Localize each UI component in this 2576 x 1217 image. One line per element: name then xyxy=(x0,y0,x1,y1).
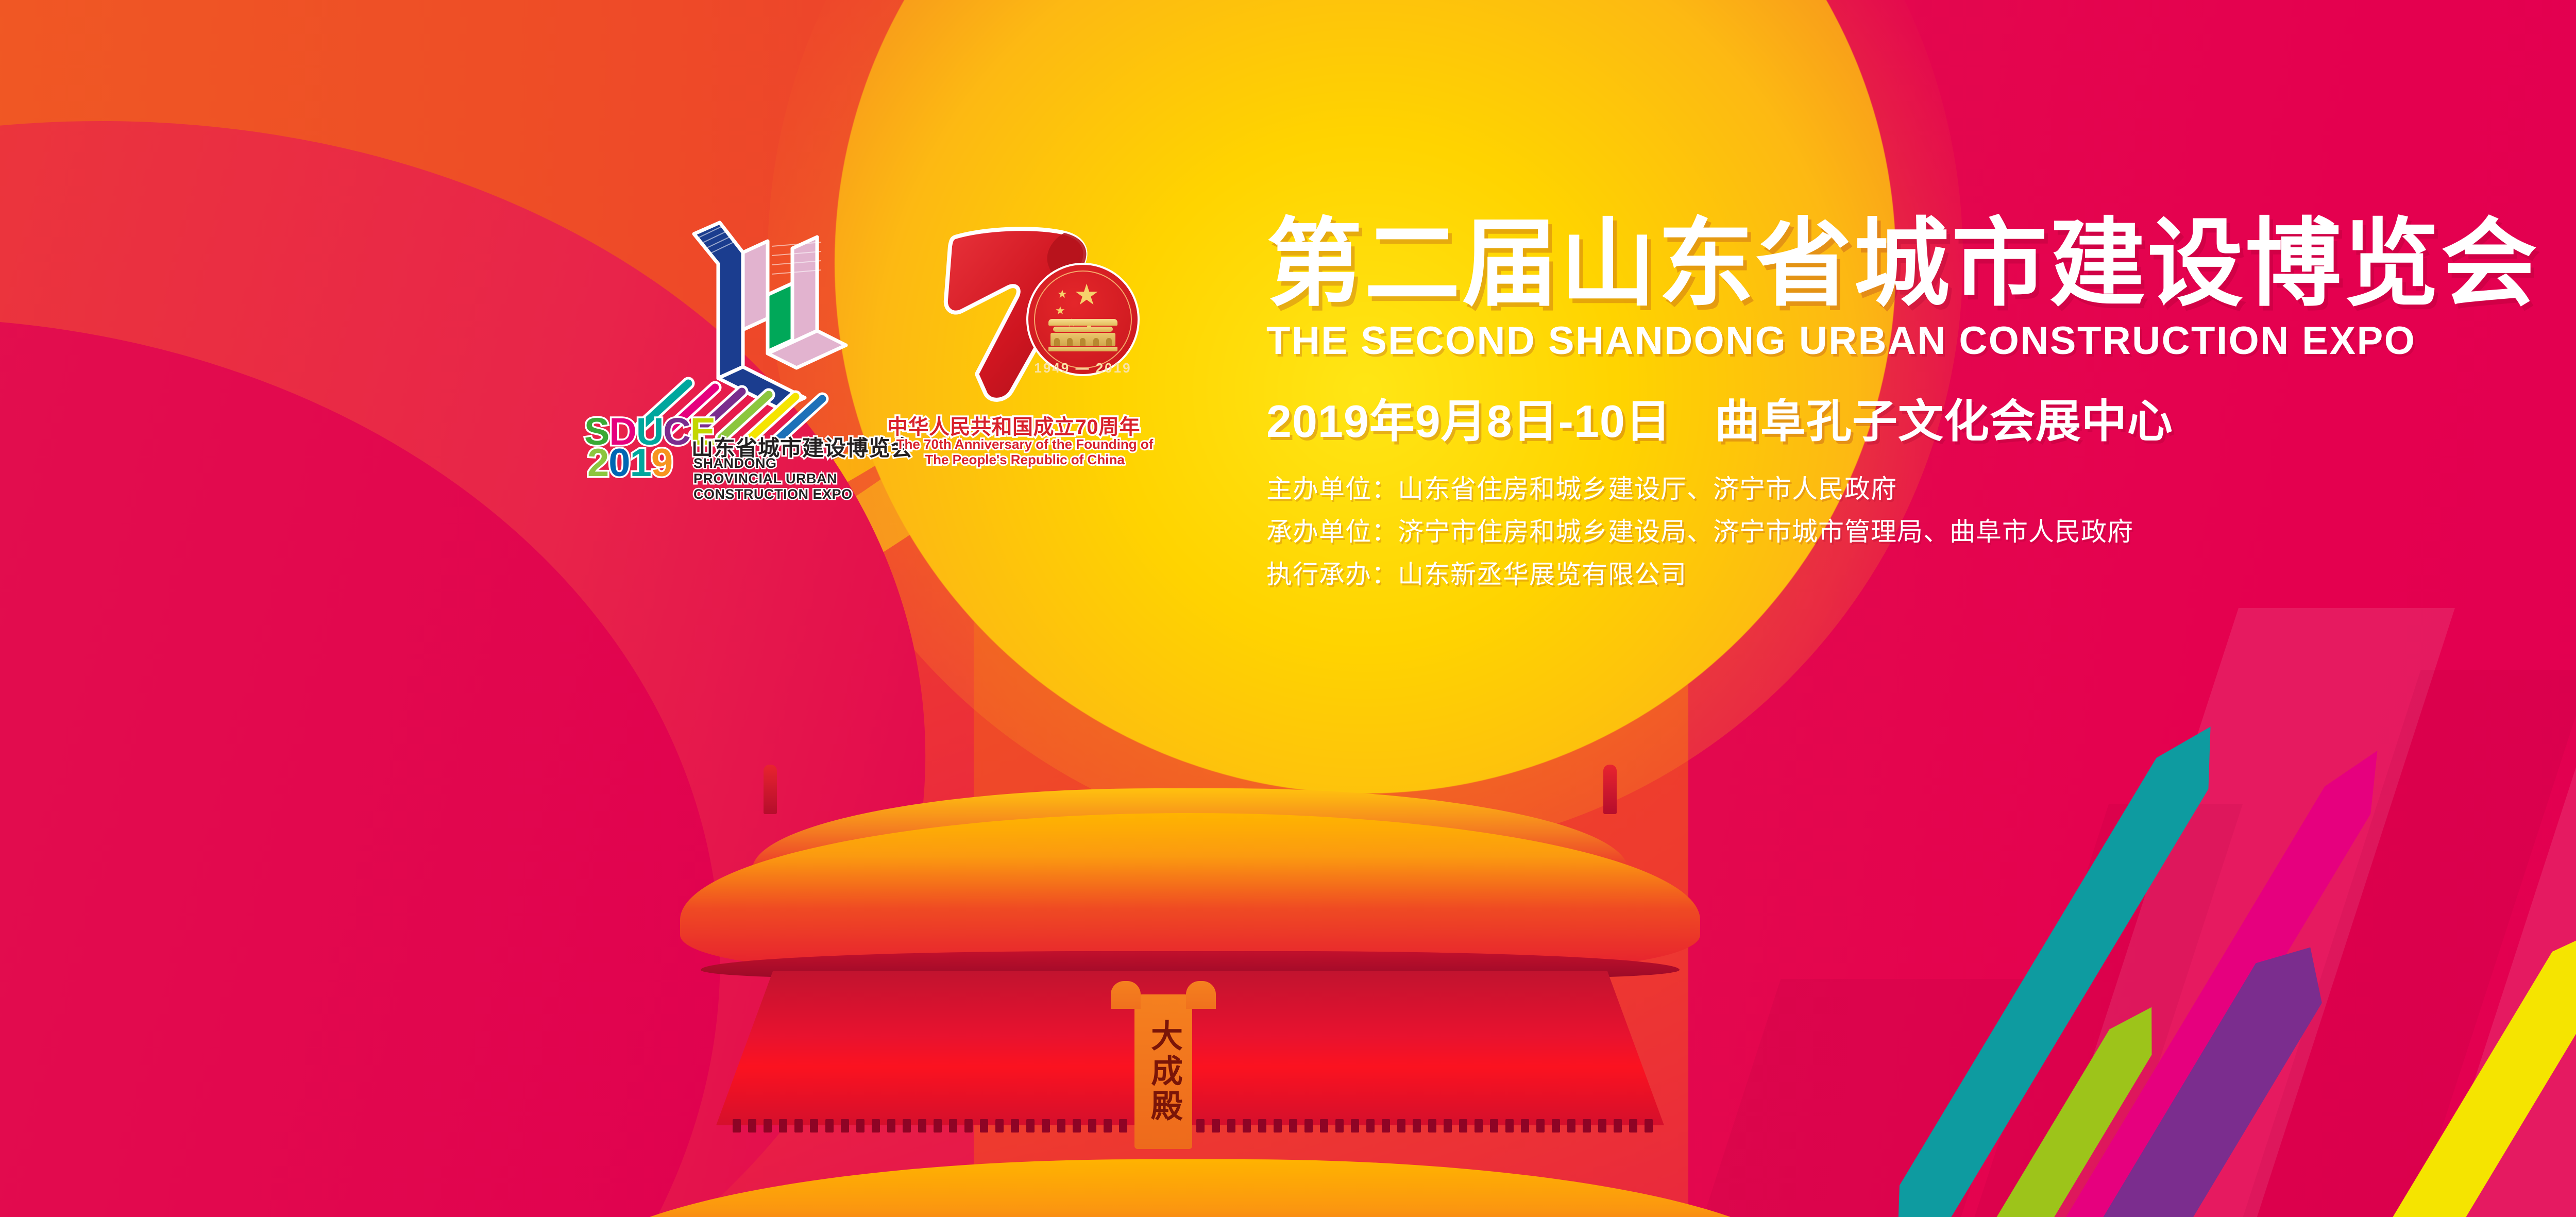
hall-plaque-text: 大成殿 xyxy=(1147,1019,1179,1124)
roof-finial-right xyxy=(1603,765,1617,814)
anniversary-years: 1949 — 2019 xyxy=(1034,360,1131,376)
emblem-star-1: ★ xyxy=(1057,289,1067,300)
date-venue-line: 2019年9月8日-10日曲阜孔子文化会展中心 xyxy=(1266,385,2576,450)
national-emblem-circle: ★ ★ ★ ★ ★ 1949 — 2019 xyxy=(1026,263,1140,376)
anniversary-caption-en: The 70th Anniversary of the Founding of … xyxy=(888,437,1161,468)
organizer-block: 主办单位：山东省住房和城乡建设厅、济宁市人民政府 承办单位：济宁市住房和城乡建设… xyxy=(1266,468,2576,596)
hall-name-plaque: 大成殿 xyxy=(1134,994,1192,1149)
tiananmen-gate-icon xyxy=(1048,319,1117,351)
title-block: 第二届山东省城市建设博览会 THE SECOND SHANDONG URBAN … xyxy=(1266,215,2576,596)
organizer-line-executor: 执行承办：山东新丞华展览有限公司 xyxy=(1266,553,2576,596)
anniversary-70-logo: ★ ★ ★ ★ ★ 1949 — 2019 中华人民共和国成立70周年 The … xyxy=(879,205,1167,494)
roof-finial-left xyxy=(764,765,777,814)
emblem-star-2: ★ xyxy=(1055,305,1065,316)
expo-title-cn: 第二届山东省城市建设博览会 xyxy=(1266,215,2576,313)
organizer-line-organizer: 承办单位：济宁市住房和城乡建设局、济宁市城市管理局、曲阜市人民政府 xyxy=(1266,511,2576,553)
expo-venue: 曲阜孔子文化会展中心 xyxy=(1715,396,2173,447)
upper-bracket-teeth xyxy=(733,1119,1653,1133)
expo-date: 2019年9月8日-10日 xyxy=(1266,396,1671,447)
dacheng-hall-illustration: 大成殿 xyxy=(531,752,1850,1217)
expo-title-en: THE SECOND SHANDONG URBAN CONSTRUCTION E… xyxy=(1266,318,2576,363)
lower-roof xyxy=(572,1159,1808,1217)
anniversary-caption-cn: 中华人民共和国成立70周年 xyxy=(887,410,1140,440)
anniversary-caption-en-line1: The 70th Anniversary of the Founding of xyxy=(888,437,1161,452)
organizer-line-host: 主办单位：山东省住房和城乡建设厅、济宁市人民政府 xyxy=(1266,468,2576,511)
emblem-star-big: ★ xyxy=(1074,280,1099,309)
sduce-year: 2019 xyxy=(587,445,672,481)
expo-banner: 大成殿 xyxy=(0,0,2576,1217)
sduce-logo: SDUCE 2019 山东省城市建设博览会 SHANDONG PROVINCIA… xyxy=(588,212,877,495)
sduce-name-en: SHANDONG PROVINCIAL URBAN CONSTRUCTION E… xyxy=(693,455,869,502)
anniversary-caption-en-line2: The People's Republic of China xyxy=(888,452,1161,468)
